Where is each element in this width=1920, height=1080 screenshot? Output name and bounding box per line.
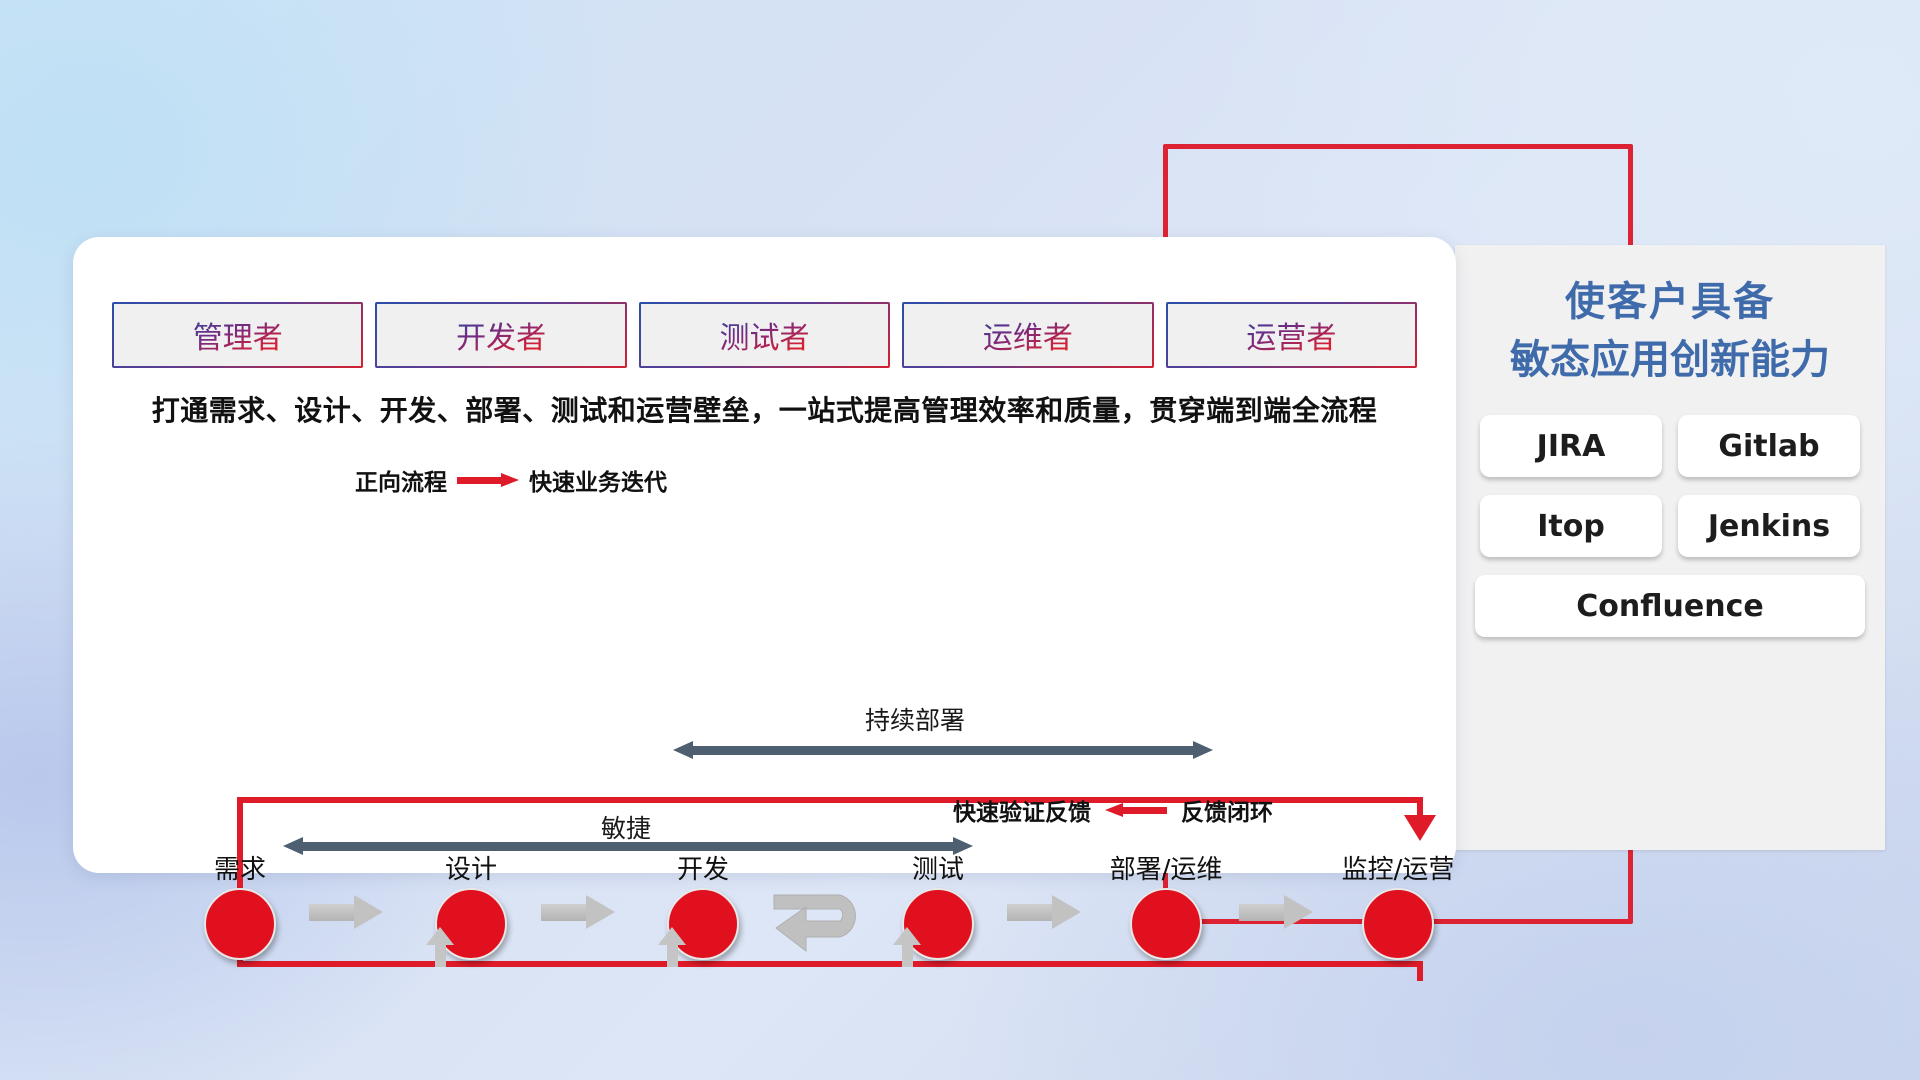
role-box-manager[interactable]: 管理者 (112, 302, 363, 368)
arrow-stem (902, 941, 913, 967)
legend-feedback-left-label: 快速验证反馈 (953, 793, 1091, 827)
span-arrow-continuous-deploy (673, 741, 1213, 759)
arrow-stem (667, 941, 678, 967)
span-label-continuous-deploy: 持续部署 (865, 701, 965, 737)
arrow-head-right-icon (1193, 741, 1213, 759)
arrow-down-red-icon (1404, 815, 1436, 841)
arrow-tip (1052, 895, 1081, 929)
stage-label: 设计 (411, 849, 531, 886)
feed-arrow-up-icon (893, 927, 921, 967)
stage-dot (1362, 888, 1434, 960)
arrow-tip (354, 895, 383, 929)
legend-feedback-right-label: 反馈闭环 (1181, 793, 1273, 827)
role-label: 开发者 (456, 313, 546, 357)
arrow-left-red-icon (1105, 803, 1167, 817)
arrow-shaft (1007, 904, 1053, 921)
tools-title-line-1: 使客户具备 (1475, 273, 1865, 331)
loop-back-arrow-icon (770, 885, 874, 967)
role-box-ops[interactable]: 运维者 (902, 302, 1153, 368)
connector-arrow-right-icon (541, 895, 615, 929)
stage-dot (1130, 888, 1202, 960)
arrow-shaft (309, 904, 355, 921)
connector-arrow-right-icon (1239, 895, 1313, 929)
role-label: 运营者 (1246, 313, 1336, 357)
role-label: 管理者 (193, 313, 283, 357)
span-arrow-agile (283, 837, 973, 855)
legend-feedback-loop: 快速验证反馈 反馈闭环 (953, 793, 1273, 827)
role-box-tester[interactable]: 测试者 (639, 302, 890, 368)
legend-forward-left-label: 正向流程 (355, 463, 447, 497)
role-label: 运维者 (983, 313, 1073, 357)
tool-button-jenkins[interactable]: Jenkins (1678, 495, 1860, 557)
stage-label: 监控/运营 (1338, 849, 1458, 886)
arrow-shaft (541, 904, 587, 921)
tools-panel: 使客户具备 敏态应用创新能力 JIRA Gitlab Itop Jenkins … (1455, 245, 1885, 850)
feed-arrow-up-icon (426, 927, 454, 967)
feed-arrow-up-icon (658, 927, 686, 967)
role-box-developer[interactable]: 开发者 (375, 302, 626, 368)
roles-row: 管理者 开发者 测试者 运维者 运营者 (112, 302, 1417, 368)
arrow-right-red-icon (457, 473, 519, 487)
tool-button-confluence[interactable]: Confluence (1475, 575, 1865, 637)
connector-arrow-right-icon (309, 895, 383, 929)
arrow-stem (435, 941, 446, 967)
tool-button-itop[interactable]: Itop (1480, 495, 1662, 557)
legend-forward-flow: 正向流程 快速业务迭代 (355, 463, 667, 497)
stage-label: 开发 (643, 849, 763, 886)
tools-panel-title: 使客户具备 敏态应用创新能力 (1475, 273, 1865, 389)
feedback-loop-right-line (1417, 961, 1423, 981)
pipeline-stage-monitor-operations[interactable]: 监控/运营 (1338, 849, 1458, 960)
description-text: 打通需求、设计、开发、部署、测试和运营壁垒，一站式提高管理效率和质量，贯穿端到端… (73, 389, 1456, 429)
arrow-head-left-icon (673, 741, 693, 759)
tool-button-gitlab[interactable]: Gitlab (1678, 415, 1860, 477)
stage-label: 需求 (180, 849, 300, 886)
legend-forward-right-label: 快速业务迭代 (529, 463, 667, 497)
pipeline-stage-deploy-ops[interactable]: 部署/运维 (1106, 849, 1226, 960)
arrow-tip (586, 895, 615, 929)
tool-button-jira[interactable]: JIRA (1480, 415, 1662, 477)
tool-list: JIRA Gitlab Itop Jenkins Confluence (1475, 415, 1865, 637)
arrow-bar (301, 842, 955, 851)
pipeline-stage-requirements[interactable]: 需求 (180, 849, 300, 960)
connector-arrow-right-icon (1007, 895, 1081, 929)
role-label: 测试者 (720, 313, 810, 357)
stage-label: 部署/运维 (1106, 849, 1226, 886)
role-box-operations[interactable]: 运营者 (1166, 302, 1417, 368)
tools-title-line-2: 敏态应用创新能力 (1475, 331, 1865, 389)
arrow-tip (1284, 895, 1313, 929)
arrow-bar (691, 746, 1195, 755)
arrow-shaft (1239, 904, 1285, 921)
stage-dot (204, 888, 276, 960)
devops-flow-card: 管理者 开发者 测试者 运维者 运营者 打通需求、设计、开发、部署、测试和运营壁… (73, 237, 1456, 873)
stage-label: 测试 (878, 849, 998, 886)
